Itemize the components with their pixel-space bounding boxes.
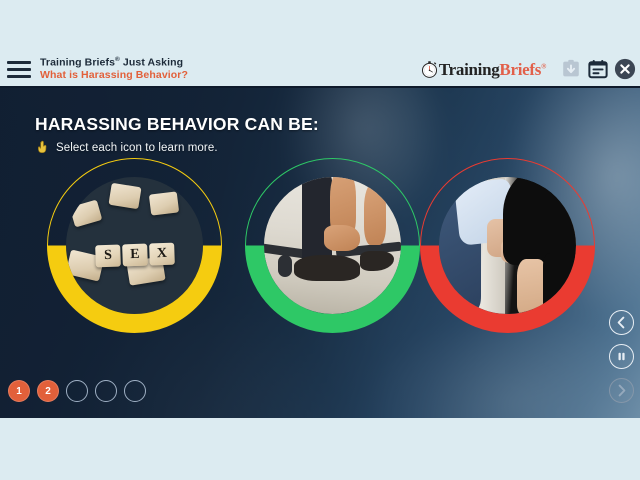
slide-heading: HARASSING BEHAVIOR CAN BE:: [35, 114, 319, 135]
slide-instruction-row: Select each icon to learn more.: [35, 140, 319, 155]
header-brand-area: TrainingBriefs®: [421, 58, 636, 80]
hotspot-unwanted-advance[interactable]: [420, 158, 595, 333]
pagination-dot[interactable]: [95, 380, 117, 402]
hotspot-sexual-comments[interactable]: S E X: [47, 158, 222, 333]
next-button[interactable]: [609, 378, 634, 403]
stopwatch-icon: [421, 61, 438, 78]
hamburger-menu-icon[interactable]: [4, 56, 34, 82]
pagination-dot[interactable]: [66, 380, 88, 402]
hotspot-physical-contact[interactable]: [245, 158, 420, 333]
previous-button[interactable]: [609, 310, 634, 335]
logo-wordmark: TrainingBriefs®: [439, 61, 546, 78]
logo-word-briefs: Briefs: [499, 60, 541, 79]
chevron-left-icon: [615, 316, 628, 329]
course-title-suffix: Just Asking: [120, 57, 183, 69]
trainingbriefs-logo: TrainingBriefs®: [421, 61, 546, 78]
close-icon[interactable]: [614, 58, 636, 80]
hamburger-line: [7, 75, 31, 78]
course-player: Training Briefs® Just Asking What is Har…: [0, 0, 640, 480]
player-footer: [0, 418, 640, 480]
pause-icon: [615, 350, 628, 363]
hotspot-3-ring: [420, 158, 595, 333]
logo-word-training: Training: [439, 60, 500, 79]
hamburger-line: [7, 61, 31, 64]
chevron-right-icon: [615, 384, 628, 397]
logo-registered-mark: ®: [541, 62, 546, 70]
pause-button[interactable]: [609, 344, 634, 369]
course-title: Training Briefs® Just Asking: [40, 57, 421, 69]
hotspot-2-ring: [245, 158, 420, 333]
hotspot-group: S E X: [0, 158, 640, 333]
pointing-hand-icon: [35, 140, 50, 155]
pagination-dot[interactable]: 2: [37, 380, 59, 402]
player-header: Training Briefs® Just Asking What is Har…: [0, 50, 640, 88]
header-titles: Training Briefs® Just Asking What is Har…: [40, 57, 421, 81]
pagination-dot[interactable]: 1: [8, 380, 30, 402]
slide-pagination: 1 2: [8, 380, 146, 402]
hamburger-line: [7, 68, 31, 71]
download-icon[interactable]: [560, 58, 582, 80]
notes-icon[interactable]: [587, 58, 609, 80]
lesson-subtitle: What is Harassing Behavior?: [40, 70, 421, 81]
pagination-dot[interactable]: [124, 380, 146, 402]
playback-controls: [609, 310, 634, 403]
hotspot-1-ring: [47, 158, 222, 333]
course-title-text: Training Briefs: [40, 57, 115, 69]
slide-stage: HARASSING BEHAVIOR CAN BE: Select each i…: [0, 88, 640, 418]
slide-heading-block: HARASSING BEHAVIOR CAN BE: Select each i…: [35, 114, 319, 155]
slide-instruction-text: Select each icon to learn more.: [56, 142, 218, 154]
